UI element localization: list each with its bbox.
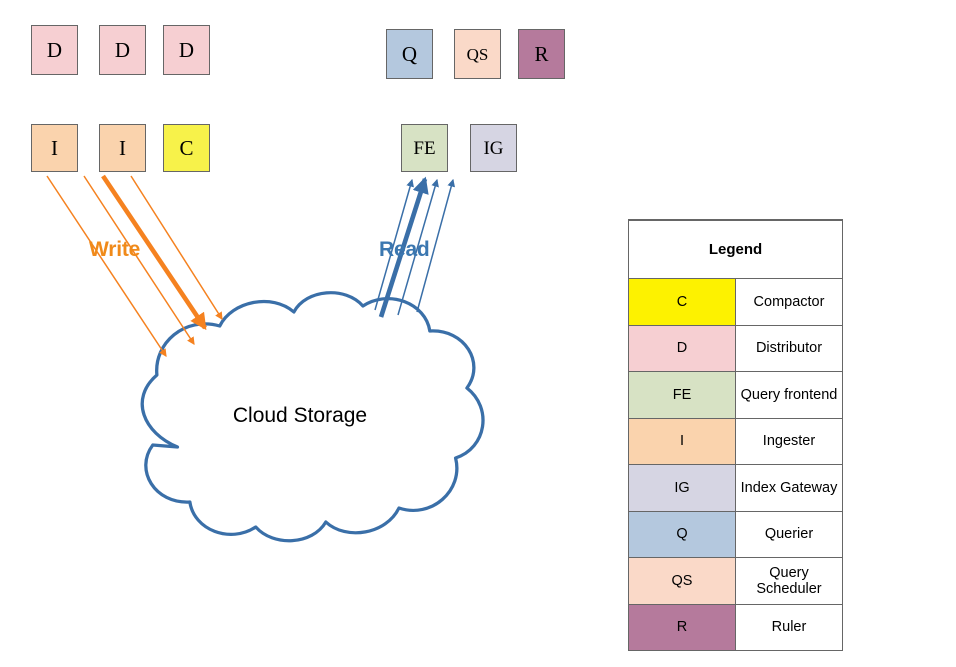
legend-name-compactor: Compactor <box>736 279 843 326</box>
node-ingester-1[interactable]: I <box>31 124 78 172</box>
legend-name-ruler: Ruler <box>736 604 843 650</box>
node-label: I <box>51 138 58 159</box>
node-distributor-3[interactable]: D <box>163 25 210 75</box>
node-label: C <box>179 138 193 159</box>
node-querier[interactable]: Q <box>386 29 433 79</box>
legend-row: C Compactor <box>629 279 842 326</box>
legend-row: I Ingester <box>629 418 842 465</box>
node-ruler[interactable]: R <box>518 29 565 79</box>
write-flow-label: Write <box>89 238 140 262</box>
node-compactor[interactable]: C <box>163 124 210 172</box>
node-label: Q <box>402 44 417 65</box>
cloud-storage-label: Cloud Storage <box>190 404 410 428</box>
legend-name-distributor: Distributor <box>736 325 843 372</box>
legend-name-index-gateway: Index Gateway <box>736 465 843 512</box>
node-label: D <box>179 40 194 61</box>
legend-row: R Ruler <box>629 604 842 650</box>
legend-name-query-scheduler: Query Scheduler <box>736 558 843 605</box>
node-label: IG <box>483 139 503 158</box>
read-flow-label: Read <box>379 238 430 262</box>
node-label: R <box>534 44 548 65</box>
legend-swatch-query-scheduler: QS <box>629 558 736 605</box>
node-label: D <box>47 40 62 61</box>
legend-swatch-querier: Q <box>629 511 736 558</box>
node-label: D <box>115 40 130 61</box>
legend-header-row: Legend <box>629 221 842 279</box>
legend-row: Q Querier <box>629 511 842 558</box>
legend-swatch-ruler: R <box>629 604 736 650</box>
node-query-frontend[interactable]: FE <box>401 124 448 172</box>
legend-row: FE Query frontend <box>629 372 842 419</box>
legend-swatch-compactor: C <box>629 279 736 326</box>
node-distributor-2[interactable]: D <box>99 25 146 75</box>
legend-row: D Distributor <box>629 325 842 372</box>
legend-swatch-distributor: D <box>629 325 736 372</box>
legend-row: QS Query Scheduler <box>629 558 842 605</box>
legend-swatch-index-gateway: IG <box>629 465 736 512</box>
legend-title: Legend <box>629 221 842 279</box>
node-label: I <box>119 138 126 159</box>
legend-name-ingester: Ingester <box>736 418 843 465</box>
node-query-scheduler[interactable]: QS <box>454 29 501 79</box>
node-label: FE <box>413 139 435 158</box>
node-ingester-2[interactable]: I <box>99 124 146 172</box>
legend-name-querier: Querier <box>736 511 843 558</box>
legend-swatch-query-frontend: FE <box>629 372 736 419</box>
legend-panel: Legend C Compactor D Distributor FE Quer… <box>628 219 843 651</box>
legend-swatch-ingester: I <box>629 418 736 465</box>
node-distributor-1[interactable]: D <box>31 25 78 75</box>
legend-name-query-frontend: Query frontend <box>736 372 843 419</box>
node-label: QS <box>467 46 489 63</box>
legend-row: IG Index Gateway <box>629 465 842 512</box>
node-index-gateway[interactable]: IG <box>470 124 517 172</box>
